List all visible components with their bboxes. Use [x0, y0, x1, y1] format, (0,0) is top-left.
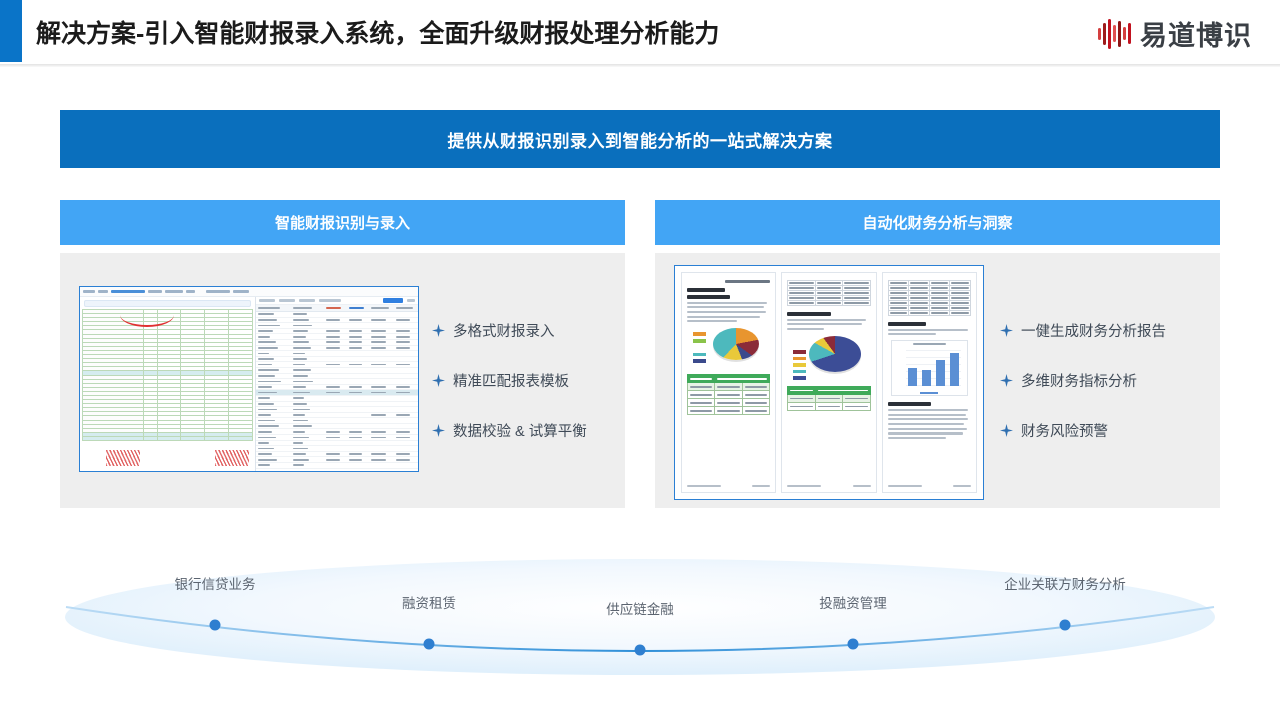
column-analysis-body: 一健生成财务分析报告 多维财务指标分析 财务风险预警: [655, 253, 1220, 508]
report-subsection-heading: [687, 295, 730, 299]
list-item: 多维财务指标分析: [1000, 370, 1166, 391]
report-page-1: [681, 272, 776, 493]
recognition-feature-list: 多格式财报录入 精准匹配报表模板 数据校验 & 试算平衡: [432, 253, 587, 508]
waveform-logo-icon: [1098, 17, 1131, 51]
current-asset-pie-chart: [809, 336, 861, 372]
sparkle-bullet-icon: [432, 424, 445, 437]
arc-node-dot: [424, 639, 435, 650]
finance-entry-app-screenshot: [79, 286, 419, 472]
list-item: 财务风险预警: [1000, 420, 1166, 441]
report-page-footer: [687, 485, 770, 487]
column-recognition-title: 智能财报识别与录入: [275, 212, 410, 233]
asset-composition-pie-chart: [713, 328, 759, 360]
asset-summary-table: [687, 374, 770, 415]
document-preview-toolbar: [84, 300, 251, 307]
solution-banner: 提供从财报识别录入到智能分析的一站式解决方案: [60, 110, 1220, 168]
liability-table: [787, 280, 870, 306]
scenario-label-supply-chain: 供应链金融: [606, 598, 674, 618]
data-grid-header-row: [256, 305, 418, 312]
column-analysis-title: 自动化财务分析与洞察: [862, 212, 1012, 233]
red-seal-stamp-right: [215, 450, 249, 466]
scenario-label-finance-lease: 融资租赁: [402, 592, 456, 612]
arc-node-dot: [1060, 620, 1071, 631]
page-header: 解决方案-引入智能财报录入系统，全面升级财报处理分析能力 易道博识: [0, 0, 1280, 66]
feature-label: 数据校验 & 试算平衡: [453, 420, 587, 441]
red-seal-stamp-left: [106, 450, 140, 466]
list-item: 精准匹配报表模板: [432, 370, 587, 391]
list-item: 多格式财报录入: [432, 320, 587, 341]
document-preview-pane: [80, 297, 256, 471]
arc-node-dot: [848, 639, 859, 650]
pie-chart-legend: [793, 350, 806, 380]
solution-banner-text: 提供从财报识别录入到智能分析的一站式解决方案: [448, 127, 833, 152]
analysis-report-screenshot: [674, 265, 984, 500]
app-split-view: [80, 297, 418, 471]
header-divider: [0, 64, 1280, 67]
report-pages: [681, 272, 977, 493]
arc-node-dot: [210, 620, 221, 631]
column-recognition: 智能财报识别与录入: [60, 200, 625, 508]
app-toolbar: [80, 287, 418, 297]
total-asset-trend-bar-chart: [891, 340, 968, 396]
financial-statement-table: [82, 309, 253, 441]
table-row[interactable]: [256, 463, 418, 469]
sparkle-bullet-icon: [1000, 324, 1013, 337]
report-page-footer: [787, 485, 870, 487]
arc-node-dot: [635, 645, 646, 656]
brand-logo: 易道博识: [1098, 14, 1252, 53]
feature-label: 精准匹配报表模板: [453, 370, 569, 391]
sparkle-bullet-icon: [432, 324, 445, 337]
report-section-heading: [687, 288, 725, 292]
report-section-heading: [888, 402, 931, 406]
column-recognition-body: 多格式财报录入 精准匹配报表模板 数据校验 & 试算平衡: [60, 253, 625, 508]
feature-label: 财务风险预警: [1021, 420, 1108, 441]
data-grid-toolbar: [256, 297, 418, 305]
scenario-label-investment-mgmt: 投融资管理: [819, 592, 887, 612]
report-page-header: [725, 280, 770, 283]
column-recognition-header: 智能财报识别与录入: [60, 200, 625, 245]
pie-chart-legend: [693, 332, 706, 362]
report-page-footer: [888, 485, 971, 487]
current-asset-table: [787, 386, 870, 411]
brand-name: 易道博识: [1140, 14, 1252, 53]
asset-change-table: [888, 280, 971, 316]
sparkle-bullet-icon: [1000, 424, 1013, 437]
page-title: 解决方案-引入智能财报录入系统，全面升级财报处理分析能力: [36, 14, 719, 50]
report-section-heading: [888, 322, 926, 326]
list-item: 数据校验 & 试算平衡: [432, 420, 587, 441]
column-analysis-header: 自动化财务分析与洞察: [655, 200, 1220, 245]
header-accent-bar: [0, 0, 22, 62]
analysis-feature-list: 一健生成财务分析报告 多维财务指标分析 财务风险预警: [1000, 253, 1166, 508]
column-analysis: 自动化财务分析与洞察: [655, 200, 1220, 508]
report-page-2: [781, 272, 876, 493]
sparkle-bullet-icon: [1000, 374, 1013, 387]
scenario-label-bank-credit: 银行信贷业务: [175, 573, 256, 593]
sparkle-bullet-icon: [432, 374, 445, 387]
data-grid-pane: [256, 297, 418, 471]
feature-label: 多维财务指标分析: [1021, 370, 1137, 391]
list-item: 一健生成财务分析报告: [1000, 320, 1166, 341]
scenario-label-related-party: 企业关联方财务分析: [1004, 573, 1126, 593]
scenarios-section: 深度赋能金融业务场景 银行信贷业务 融资租赁 供应链金融 投融资管理 企业关联方…: [0, 545, 1280, 675]
feature-label: 多格式财报录入: [453, 320, 555, 341]
feature-label: 一健生成财务分析报告: [1021, 320, 1166, 341]
report-page-3: [882, 272, 977, 493]
report-section-heading: [787, 312, 830, 316]
